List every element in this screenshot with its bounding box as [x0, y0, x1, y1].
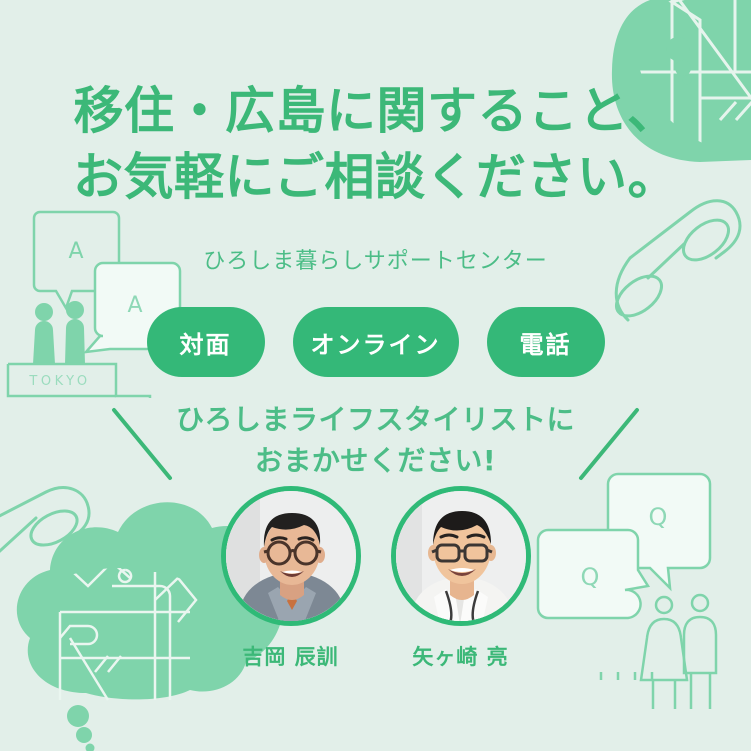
badge-online[interactable]: オンライン — [293, 307, 459, 377]
avatar — [221, 486, 361, 626]
hiroshima-support-center-banner: A A TOKYO — [0, 0, 751, 751]
portrait-yoshioka — [226, 491, 356, 621]
center-name: ひろしま暮らしサポートセンター — [0, 243, 751, 275]
list-item: 吉岡 辰訓 — [215, 486, 367, 671]
lead-copy: ひろしまライフスタイリストに おまかせください! — [0, 400, 751, 481]
page-title: 移住・広島に関すること、 お気軽にご相談ください。 — [0, 78, 751, 210]
person-name: 矢ヶ崎 亮 — [385, 641, 537, 671]
service-badge-list: 対面 オンライン 電話 — [0, 307, 751, 377]
lifestylist-list: 吉岡 辰訓 — [0, 486, 751, 671]
list-item: 矢ヶ崎 亮 — [385, 486, 537, 671]
portrait-yagasaki — [396, 491, 526, 621]
avatar — [391, 486, 531, 626]
badge-taimen[interactable]: 対面 — [147, 307, 265, 377]
person-name: 吉岡 辰訓 — [215, 641, 367, 671]
badge-denwa[interactable]: 電話 — [487, 307, 605, 377]
hero-content: 移住・広島に関すること、 お気軽にご相談ください。 ひろしま暮らしサポートセンタ… — [0, 0, 751, 751]
